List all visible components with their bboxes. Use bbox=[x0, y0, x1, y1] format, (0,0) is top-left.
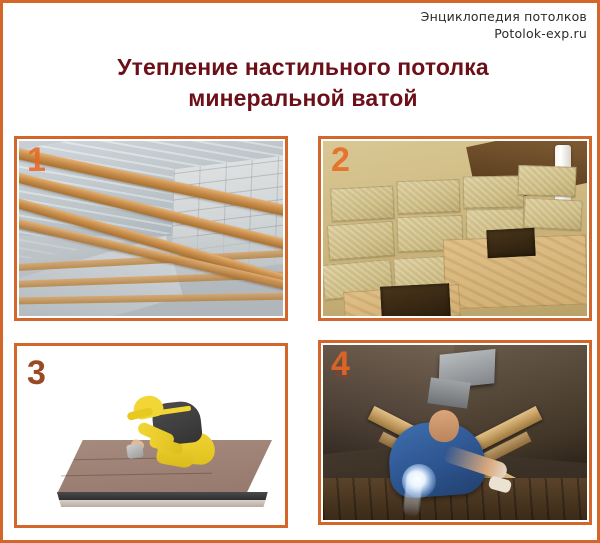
watermark-line-2: Potolok-exp.ru bbox=[421, 26, 587, 43]
mineral-wool-scene bbox=[323, 141, 587, 316]
ventilation-duct bbox=[427, 377, 470, 408]
wool-batt bbox=[396, 178, 460, 213]
board-installation-illustration bbox=[19, 348, 283, 523]
page-title-line-1: Утепление настильного потолка bbox=[3, 52, 600, 83]
panel-4: 4 4 bbox=[318, 340, 592, 525]
attic-rafters-scene bbox=[19, 141, 283, 316]
panel-2-image: 2 bbox=[323, 141, 587, 316]
board-edge-light bbox=[57, 500, 268, 507]
wool-batt bbox=[330, 185, 395, 222]
hand-tool-icon bbox=[126, 443, 144, 459]
panel-1-image: 1 bbox=[19, 141, 283, 316]
wool-batt bbox=[518, 164, 577, 196]
infographic-page: Энциклопедия потолков Potolok-exp.ru Уте… bbox=[0, 0, 600, 543]
deck-opening bbox=[486, 227, 535, 257]
wool-batt bbox=[523, 197, 583, 230]
work-light-icon bbox=[402, 464, 436, 498]
panel-4-image: 4 4 bbox=[323, 345, 587, 520]
deck-opening bbox=[380, 283, 450, 316]
board-edge-dark bbox=[57, 492, 268, 500]
watermark-line-1: Энциклопедия потолков bbox=[421, 9, 587, 26]
wool-batt bbox=[327, 221, 395, 261]
panel-1: 1 bbox=[14, 136, 288, 321]
page-title: Утепление настильного потолка минерально… bbox=[3, 52, 600, 113]
site-watermark: Энциклопедия потолков Potolok-exp.ru bbox=[421, 9, 587, 42]
panel-3-image: 3 bbox=[19, 348, 283, 523]
page-title-line-2: минеральной ватой bbox=[3, 83, 600, 114]
worker-figure bbox=[127, 392, 223, 478]
panel-3: 3 bbox=[14, 343, 288, 528]
membrane-print-text: 4 bbox=[331, 355, 352, 388]
wool-batt bbox=[463, 175, 524, 208]
panel-grid: 1 bbox=[14, 136, 592, 528]
panel-2: 2 bbox=[318, 136, 592, 321]
attic-worker-scene: 4 bbox=[323, 345, 587, 520]
